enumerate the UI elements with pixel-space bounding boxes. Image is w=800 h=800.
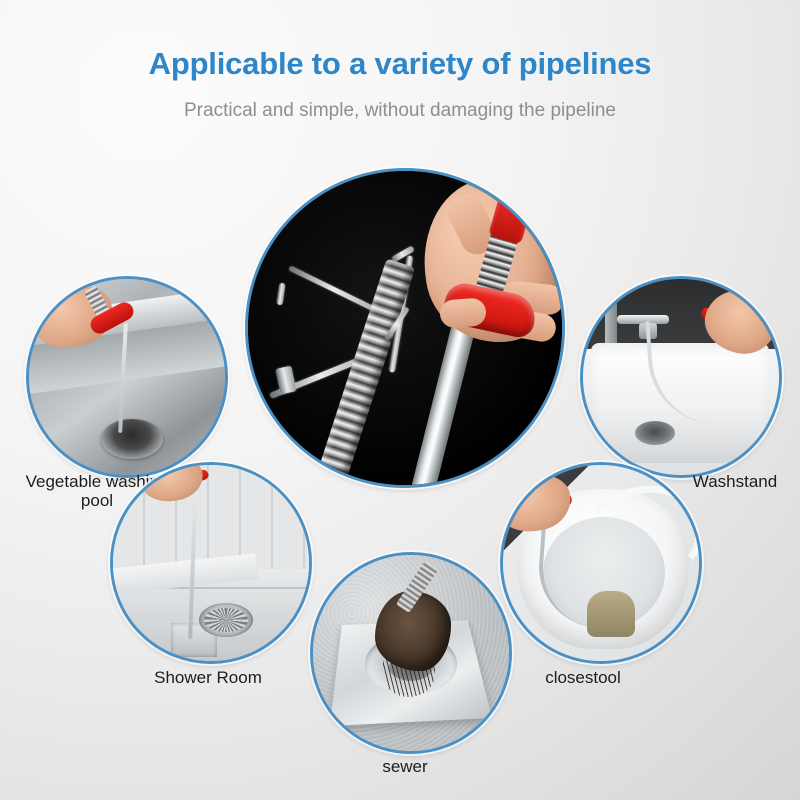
product-infographic: Applicable to a variety of pipelines Pra… bbox=[0, 0, 800, 800]
photo-vegetable-washing-pool bbox=[26, 276, 228, 478]
page-title: Applicable to a variety of pipelines bbox=[0, 46, 800, 82]
caption-closestool: closestool bbox=[500, 668, 666, 687]
photo-washstand bbox=[580, 276, 782, 478]
hero-product-photo bbox=[245, 168, 565, 488]
floor-drain-grate bbox=[199, 603, 253, 637]
photo-closestool bbox=[500, 462, 702, 664]
page-subtitle: Practical and simple, without damaging t… bbox=[0, 100, 800, 122]
caption-shower-room: Shower Room bbox=[128, 668, 288, 687]
sink-drain bbox=[101, 419, 163, 459]
photo-sewer bbox=[310, 552, 512, 754]
basin-drain bbox=[635, 421, 675, 445]
thumb bbox=[439, 297, 487, 328]
photo-shower-room bbox=[110, 462, 312, 664]
caption-sewer: sewer bbox=[330, 757, 480, 776]
faucet-post bbox=[605, 295, 617, 347]
